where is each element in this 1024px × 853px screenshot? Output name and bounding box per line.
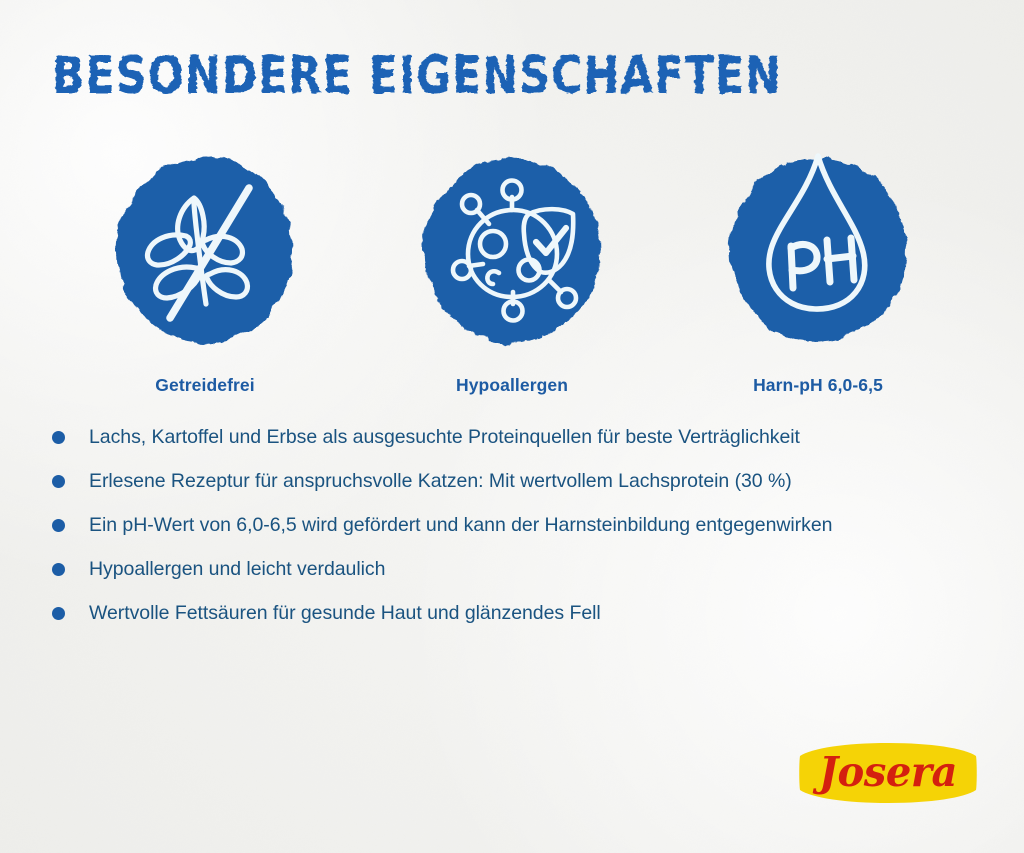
list-item-label: Lachs, Kartoffel und Erbse als ausgesuch… <box>89 424 800 450</box>
bullet-dot-icon <box>52 475 65 488</box>
feature-icon-row: Getreidefrei <box>0 152 1024 402</box>
feature-getreidefrei: Getreidefrei <box>75 152 335 396</box>
feature-label: Getreidefrei <box>75 375 335 396</box>
list-item: Ein pH-Wert von 6,0-6,5 wird gefördert u… <box>52 512 982 556</box>
page-title: BESONDERE EIGENSCHAFTEN <box>52 44 852 108</box>
bullet-dot-icon <box>52 563 65 576</box>
feature-harn-ph: pH Harn-pH 6,0-6,5 <box>688 152 948 396</box>
list-item-label: Hypoallergen und leicht verdaulich <box>89 556 385 582</box>
list-item-label: Erlesene Rezeptur für anspruchsvolle Kat… <box>89 468 792 494</box>
page-title-text: BESONDERE EIGENSCHAFTEN <box>52 46 782 106</box>
feature-hypoallergen: Hypoallergen <box>382 152 642 396</box>
feature-label: Harn-pH 6,0-6,5 <box>688 375 948 396</box>
list-item: Hypoallergen und leicht verdaulich <box>52 556 982 600</box>
logo-wordmark: Josera <box>812 748 957 796</box>
bullet-dot-icon <box>52 519 65 532</box>
list-item: Wertvolle Fettsäuren für gesunde Haut un… <box>52 600 982 644</box>
list-item: Erlesene Rezeptur für anspruchsvolle Kat… <box>52 468 982 512</box>
feature-label: Hypoallergen <box>382 375 642 396</box>
grain-free-icon <box>110 152 300 348</box>
bullet-dot-icon <box>52 607 65 620</box>
list-item-label: Wertvolle Fettsäuren für gesunde Haut un… <box>89 600 601 626</box>
poster-background: BESONDERE EIGENSCHAFTEN <box>0 0 1024 853</box>
bullet-dot-icon <box>52 431 65 444</box>
feature-bullet-list: Lachs, Kartoffel und Erbse als ausgesuch… <box>52 424 982 644</box>
allergen-shield-icon <box>417 152 607 348</box>
ph-droplet-icon: pH <box>723 152 913 348</box>
list-item-label: Ein pH-Wert von 6,0-6,5 wird gefördert u… <box>89 512 832 538</box>
josera-logo: Josera <box>798 742 978 804</box>
list-item: Lachs, Kartoffel und Erbse als ausgesuch… <box>52 424 982 468</box>
